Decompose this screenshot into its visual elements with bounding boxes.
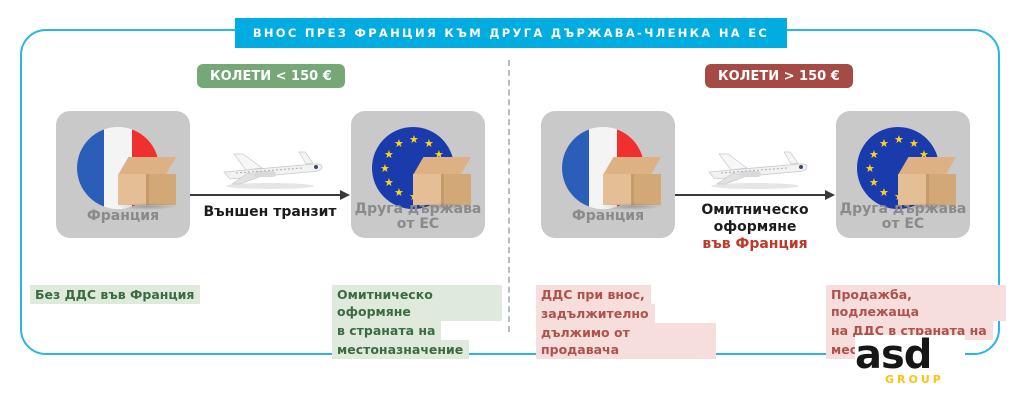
page-title: ВНОС ПРЕЗ ФРАНЦИЯ КЪМ ДРУГА ДЪРЖАВА-ЧЛЕН…	[235, 18, 787, 48]
panel-divider	[508, 60, 510, 332]
right-destination-box: ★ ★ ★ ★ ★ ★ ★ ★ ★ ★ ★ ★ Друга държава от…	[836, 111, 970, 238]
logo-wordmark: asd	[855, 335, 965, 375]
left-destination-label: Друга държава от ЕС	[351, 202, 485, 232]
left-transit-arrow-group: Външен транзит	[190, 152, 350, 222]
badge-label: КОЛЕТИ < 150 €	[210, 69, 332, 84]
right-origin-box: Франция	[541, 111, 675, 238]
logo-subtitle: GROUP	[885, 373, 944, 386]
left-destination-box: ★ ★ ★ ★ ★ ★ ★ ★ ★ ★ ★ ★ Друга държава от…	[351, 111, 485, 238]
airplane-icon	[695, 146, 815, 190]
badge-parcels-under-150: КОЛЕТИ < 150 €	[197, 64, 345, 88]
badge-parcels-over-150: КОЛЕТИ > 150 €	[705, 64, 853, 88]
right-transit-arrow-group: Омитническо оформяне във Франция	[675, 152, 835, 242]
left-transit-label: Външен транзит	[190, 204, 350, 221]
left-destination-callout: Омитническо оформяне в страната на место…	[332, 285, 502, 359]
parcel-icon	[601, 157, 663, 212]
airplane-icon	[210, 146, 330, 190]
page-title-text: ВНОС ПРЕЗ ФРАНЦИЯ КЪМ ДРУГА ДЪРЖАВА-ЧЛЕН…	[253, 26, 769, 40]
right-destination-label: Друга държава от ЕС	[836, 202, 970, 232]
right-transit-label: Омитническо оформяне във Франция	[675, 202, 835, 253]
right-origin-label: Франция	[541, 209, 675, 224]
left-origin-callout: Без ДДС във Франция	[30, 285, 230, 304]
parcel-icon	[116, 157, 178, 212]
left-origin-label: Франция	[56, 209, 190, 224]
right-origin-callout: ДДС при внос, задължително дължимо от пр…	[536, 285, 716, 359]
asd-group-logo: asd GROUP	[855, 335, 965, 391]
left-origin-box: Франция	[56, 111, 190, 238]
badge-label: КОЛЕТИ > 150 €	[718, 69, 840, 84]
